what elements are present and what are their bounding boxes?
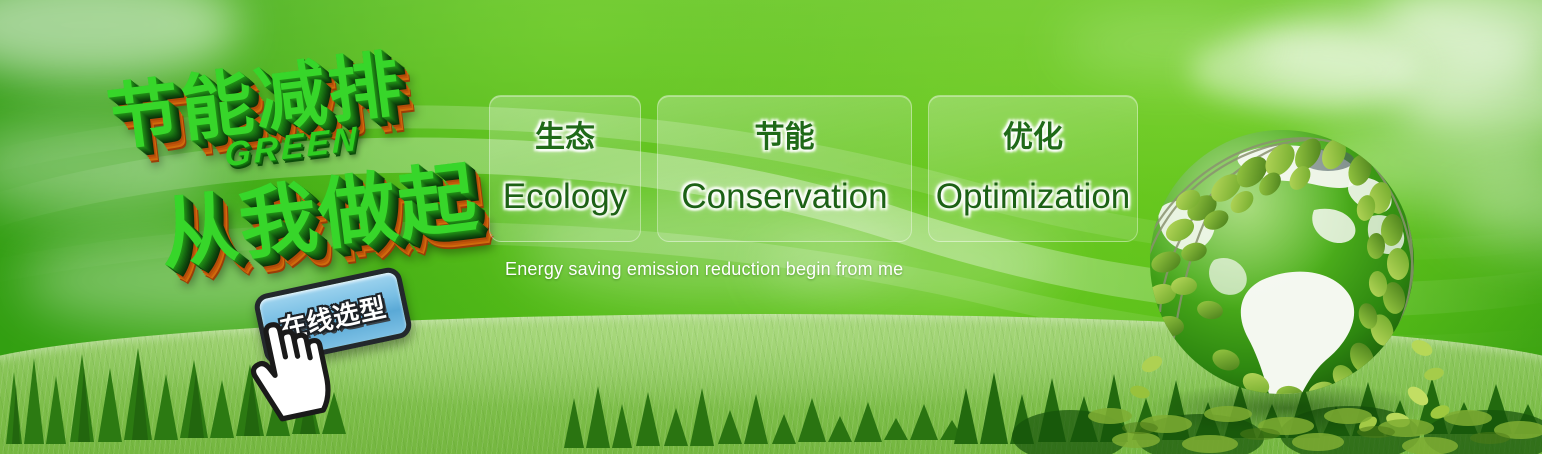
title-glyph: 做 [311,145,404,266]
feature-card-row: 生态 Ecology 节能 Conservation 优化 Optimizati… [489,95,1138,242]
feature-card-cn-label: 节能 [755,123,815,153]
title-art: 节能减排 GREEN 从我做起 [96,36,496,266]
feature-card-en-label: Ecology [503,179,628,214]
feature-card-conservation[interactable]: 节能 Conservation [657,95,912,242]
title-glyph: 排 [321,24,407,137]
title-glyph: 从 [152,164,245,285]
title-line-2: 从我做起 [152,135,483,285]
feature-card-ecology[interactable]: 生态 Ecology [489,95,641,242]
feature-card-cn-label: 优化 [1003,123,1063,153]
title-glyph: 节 [101,51,187,164]
cloud-upper-mid [1060,10,1280,80]
feature-card-en-label: Optimization [936,179,1131,214]
feature-card-optimization[interactable]: 优化 Optimization [928,95,1138,242]
feature-card-en-label: Conservation [681,179,887,214]
eco-banner: 节能减排 GREEN 从我做起 在线选型 [0,0,1542,454]
feature-card-cn-label: 生态 [535,123,595,153]
title-glyph: 我 [232,154,325,275]
title-glyph: 起 [391,135,484,256]
tagline: Energy saving emission reduction begin f… [505,259,903,280]
leaf-litter [1070,344,1542,454]
